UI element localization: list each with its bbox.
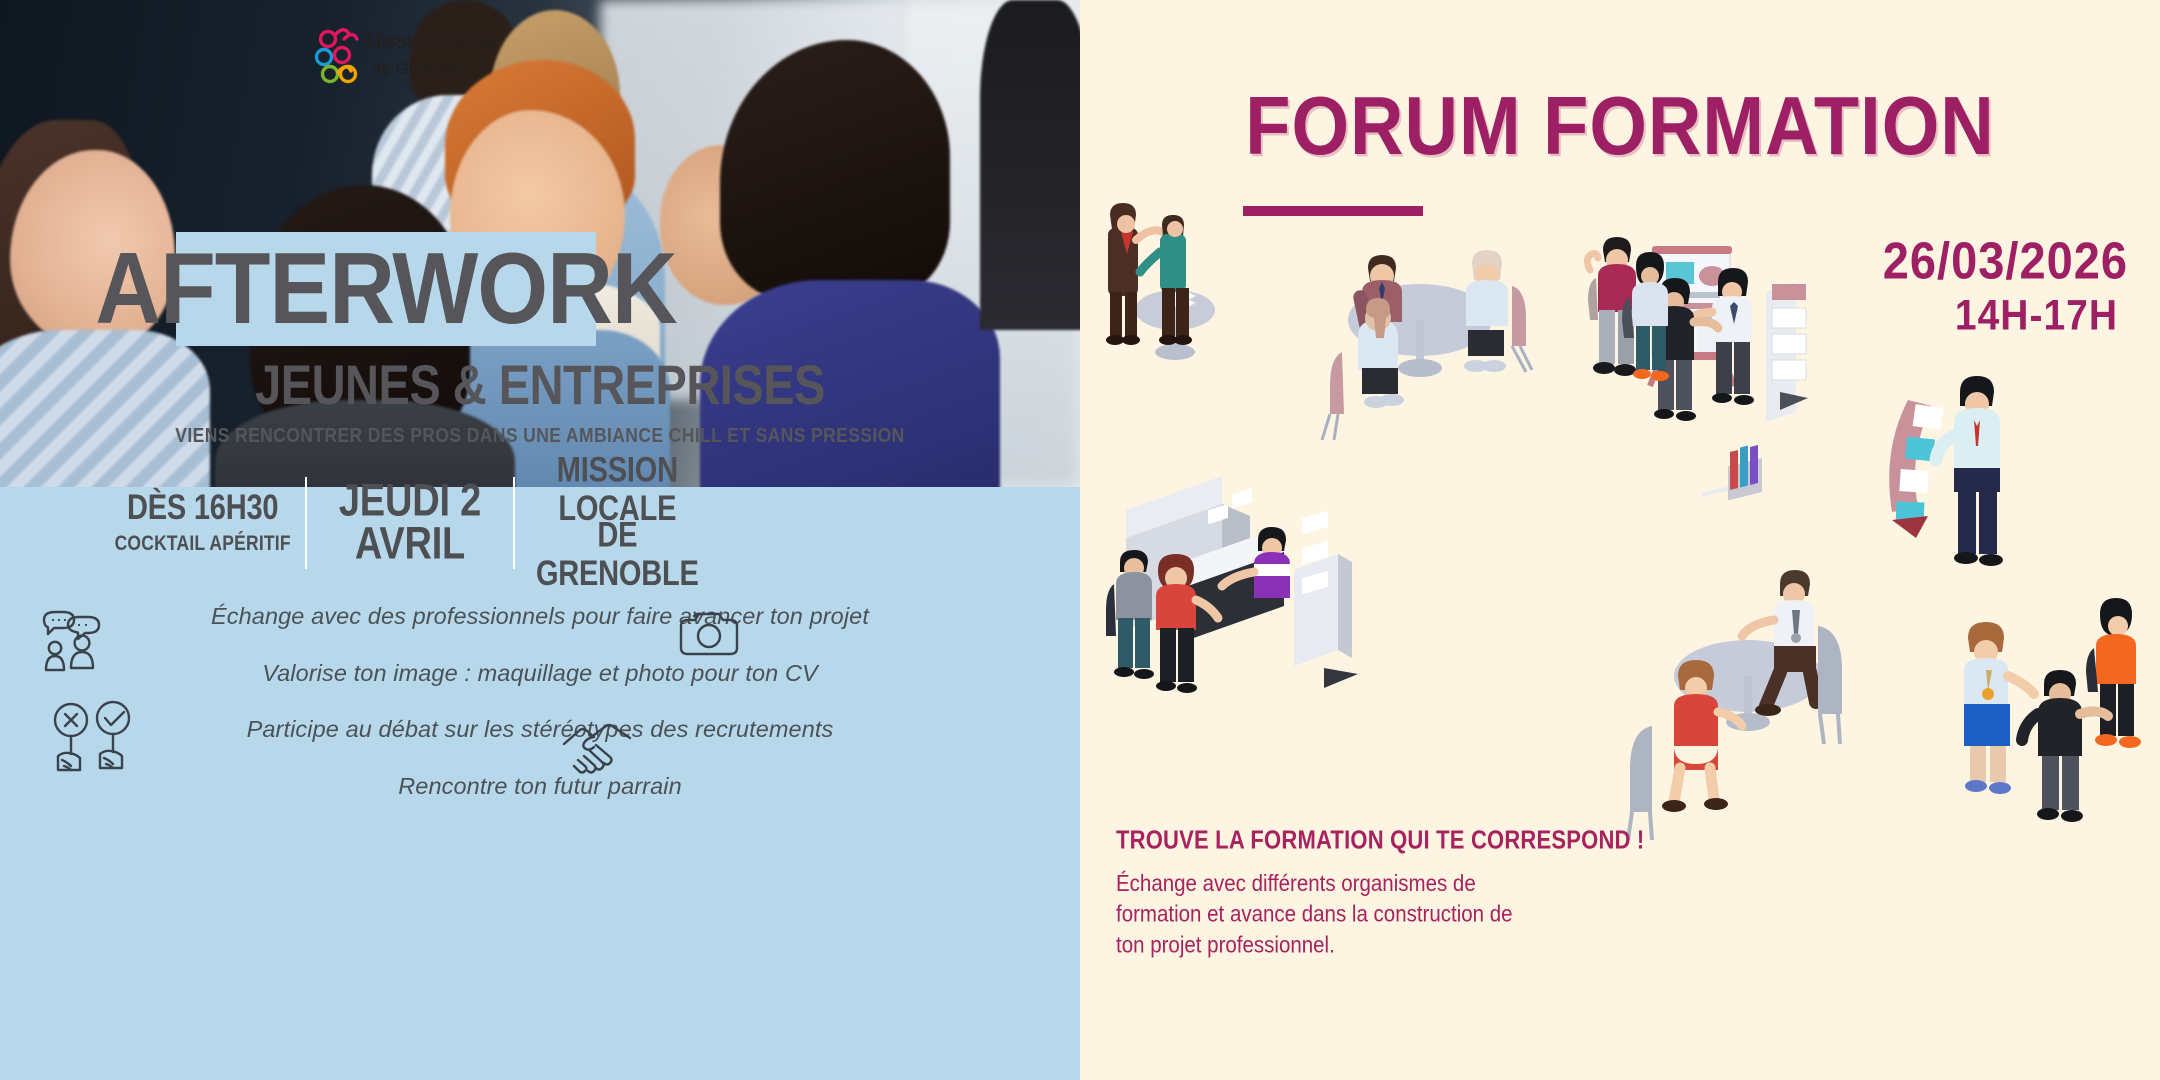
logo-line1: Mission Locale — [364, 30, 494, 53]
handshake-icon — [560, 718, 634, 778]
illustration-group-brochure-stand — [1889, 376, 2003, 566]
info-venue-block: MISSION LOCALE DE GRENOBLE — [515, 458, 720, 588]
camera-icon — [678, 608, 740, 660]
list-item: Rencontre ton futur parrain — [0, 775, 1080, 799]
vote-paddles-icon — [50, 700, 134, 780]
info-venue-line2: DE GRENOBLE — [515, 517, 720, 595]
mission-locale-logo: Mission Locale de Grenoble — [314, 22, 494, 84]
list-item: Valorise ton image : maquillage et photo… — [0, 662, 1080, 686]
info-time-block: DÈS 16H30 COCKTAIL APÉRITIF — [100, 492, 305, 554]
forum-heading: TROUVE LA FORMATION QUI TE CORRESPOND ! — [1116, 825, 1676, 856]
illustration-group-round-table — [1322, 250, 1532, 440]
speech-bubbles-people-icon — [38, 608, 110, 680]
info-time: DÈS 16H30 — [100, 489, 305, 528]
info-date-block: JEUDI 2 AVRIL — [307, 480, 512, 565]
title-underline-rule — [1243, 206, 1423, 216]
info-time-note: COCKTAIL APÉRITIF — [100, 531, 305, 556]
photo-person-body — [980, 0, 1080, 330]
list-item: Échange avec des professionnels pour fai… — [0, 605, 1080, 629]
info-date-line2: AVRIL — [307, 519, 512, 570]
logo-line2: de Grenoble — [372, 59, 466, 78]
forum-time: 14H-17H — [1598, 292, 2118, 340]
forum-date: 26/03/2026 — [1608, 230, 2128, 291]
poster-root: Mission Locale de Grenoble AFTERWORK JEU… — [0, 0, 2160, 1080]
benefits-list: Échange avec des professionnels pour fai… — [0, 605, 1080, 831]
right-panel-forum: Mission Locale de Grenoble FORUM FORMATI… — [1080, 0, 2160, 1080]
illustration-group-conversation — [1964, 598, 2141, 822]
forum-body-text: Échange avec différents organismes de fo… — [1116, 868, 1536, 961]
page-title: AFTERWORK — [163, 222, 608, 357]
event-info-row: DÈS 16H30 COCKTAIL APÉRITIF JEUDI 2 AVRI… — [100, 468, 720, 578]
list-item: Participe au débat sur les stéréotypes d… — [0, 718, 1080, 742]
tagline: VIENS RENCONTRER DES PROS DANS UNE AMBIA… — [0, 423, 1080, 448]
forum-title: FORUM FORMATION — [1080, 78, 2160, 173]
illustration-group-standing-table — [1106, 203, 1215, 360]
illustration-group-interview-desk — [1628, 445, 1842, 840]
illustration-group-booth-desk — [1106, 476, 1358, 693]
left-panel-afterwork: Mission Locale de Grenoble AFTERWORK JEU… — [0, 0, 1080, 1080]
page-subtitle: JEUNES & ENTREPRISES — [0, 352, 1080, 417]
